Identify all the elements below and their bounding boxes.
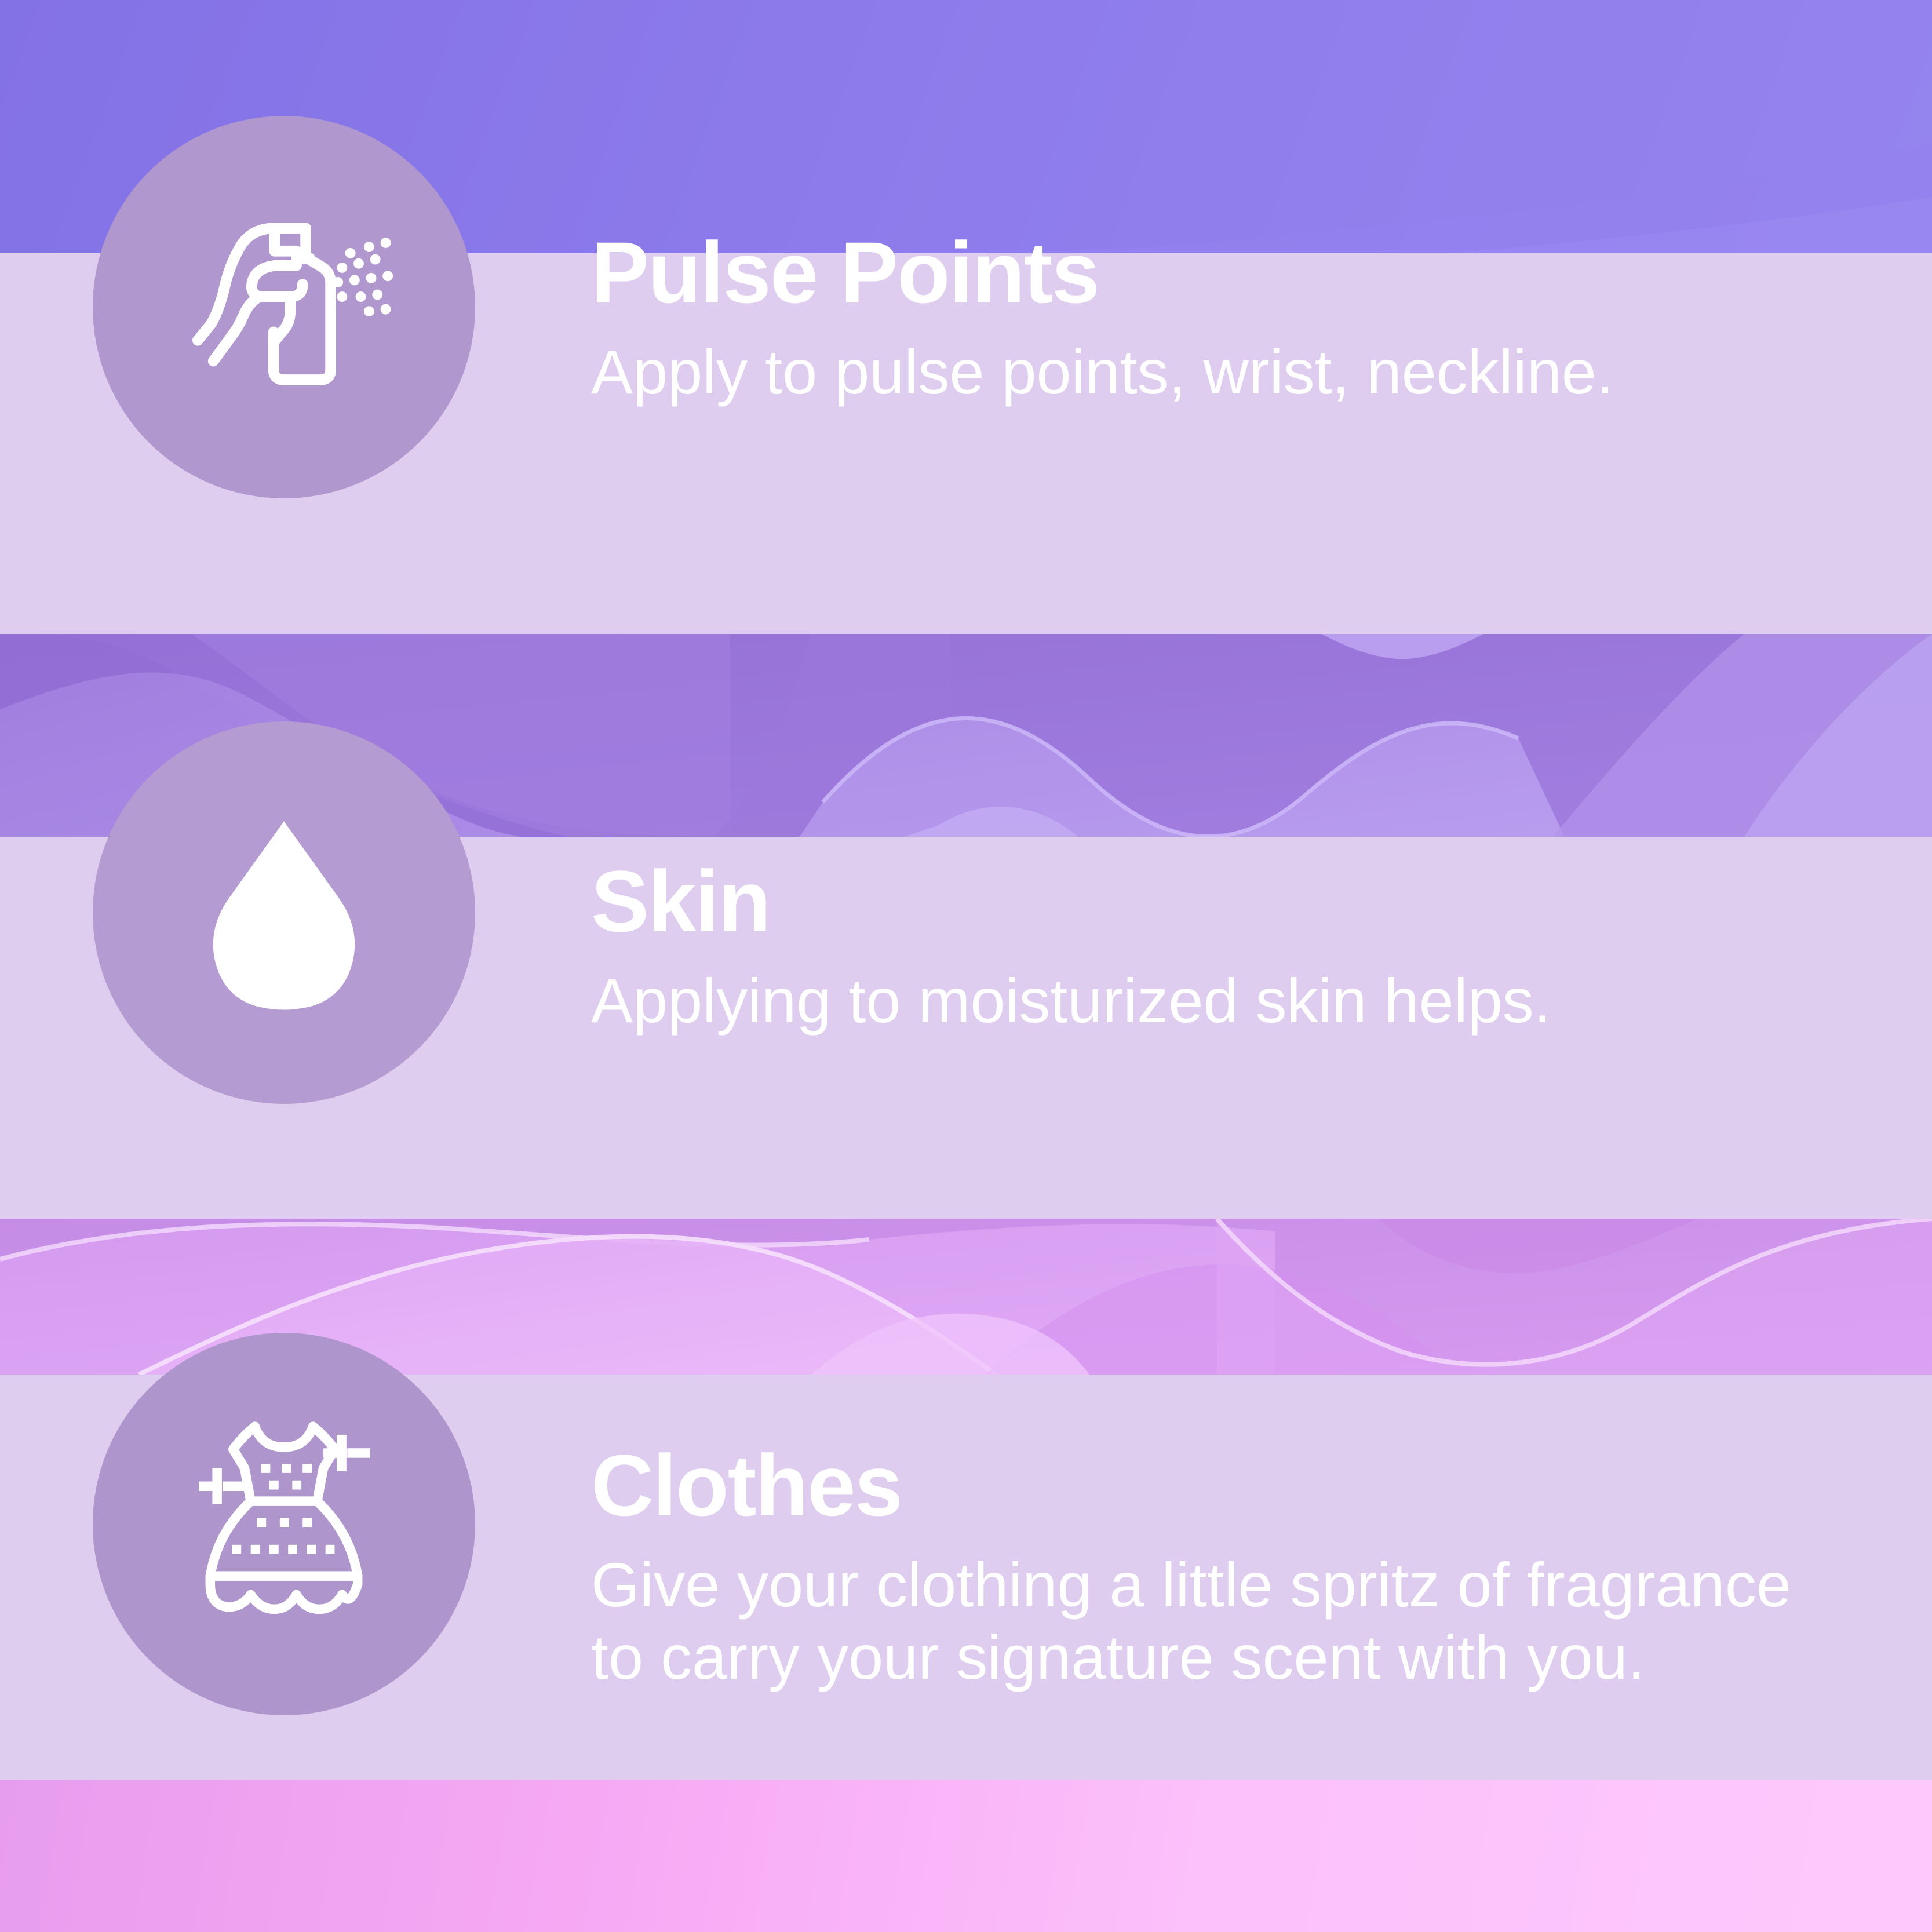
section-skin: Skin Applying to moisturized skin helps.: [93, 704, 1860, 1121]
clothes-text-column: Clothes Give your clothing a little spri…: [591, 1442, 1860, 1694]
spray-bottle-icon: [159, 183, 409, 432]
pulse-points-text-column: Pulse Points Apply to pulse points, wris…: [591, 229, 1614, 408]
skin-title: Skin: [591, 858, 1551, 945]
clothes-icon-badge: [93, 1333, 475, 1715]
clothes-title: Clothes: [591, 1442, 1860, 1529]
bottom-band-fill: [0, 1780, 1932, 1932]
skin-text-column: Skin Applying to moisturized skin helps.: [591, 858, 1551, 1037]
pulse-points-title: Pulse Points: [591, 229, 1614, 316]
bottom-decorative-band: [0, 1780, 1932, 1932]
clothes-description: Give your clothing a little spritz of fr…: [591, 1548, 1860, 1694]
skin-icon-badge: [93, 721, 475, 1104]
section-clothes: Clothes Give your clothing a little spri…: [93, 1315, 1860, 1733]
water-droplet-icon: [159, 788, 409, 1037]
pulse-points-description: Apply to pulse points, wrist, neckline.: [591, 336, 1614, 408]
section-pulse-points: Pulse Points Apply to pulse points, wris…: [93, 99, 1860, 516]
polka-dot-dress-icon: [159, 1399, 409, 1649]
pulse-points-icon-badge: [93, 116, 475, 498]
skin-description: Applying to moisturized skin helps.: [591, 964, 1551, 1037]
